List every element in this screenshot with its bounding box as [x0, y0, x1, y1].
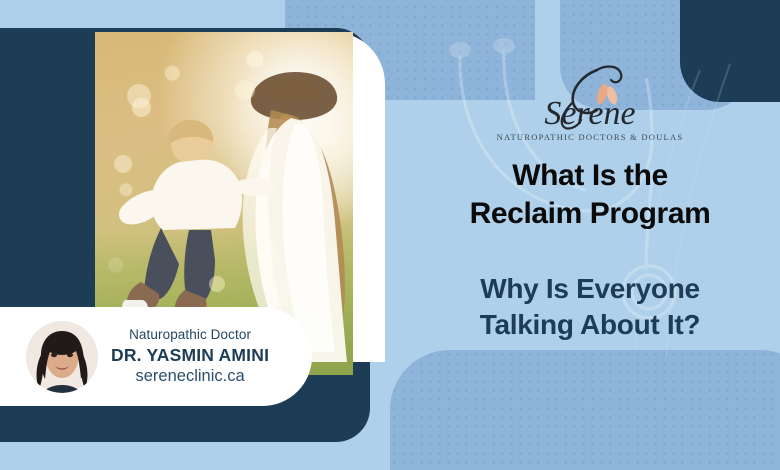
avatar [26, 321, 98, 393]
headline-secondary: Why Is Everyone Talking About It? [400, 271, 780, 343]
promo-poster: Naturopathic Doctor DR. YASMIN AMINI ser… [0, 0, 780, 470]
headline-secondary-line2: Talking About It? [400, 307, 780, 343]
presenter-text: Naturopathic Doctor DR. YASMIN AMINI ser… [111, 327, 269, 385]
presenter-website: sereneclinic.ca [111, 367, 269, 385]
headline-primary-line2: Reclaim Program [400, 195, 780, 233]
brand-tagline: NATUROPATHIC DOCTORS & DOULAS [485, 132, 695, 142]
serene-logo: Serene NATUROPATHIC DOCTORS & DOULAS [485, 58, 695, 142]
headline-primary-line1: What Is the [400, 157, 780, 195]
presenter-card: Naturopathic Doctor DR. YASMIN AMINI ser… [0, 307, 312, 406]
headline-secondary-line1: Why Is Everyone [400, 271, 780, 307]
content-column: Serene NATUROPATHIC DOCTORS & DOULAS Wha… [400, 0, 780, 470]
serene-wordmark: Serene [544, 95, 635, 130]
presenter-name: DR. YASMIN AMINI [111, 346, 269, 366]
headline-primary: What Is the Reclaim Program [400, 157, 780, 233]
presenter-role: Naturopathic Doctor [111, 327, 269, 342]
